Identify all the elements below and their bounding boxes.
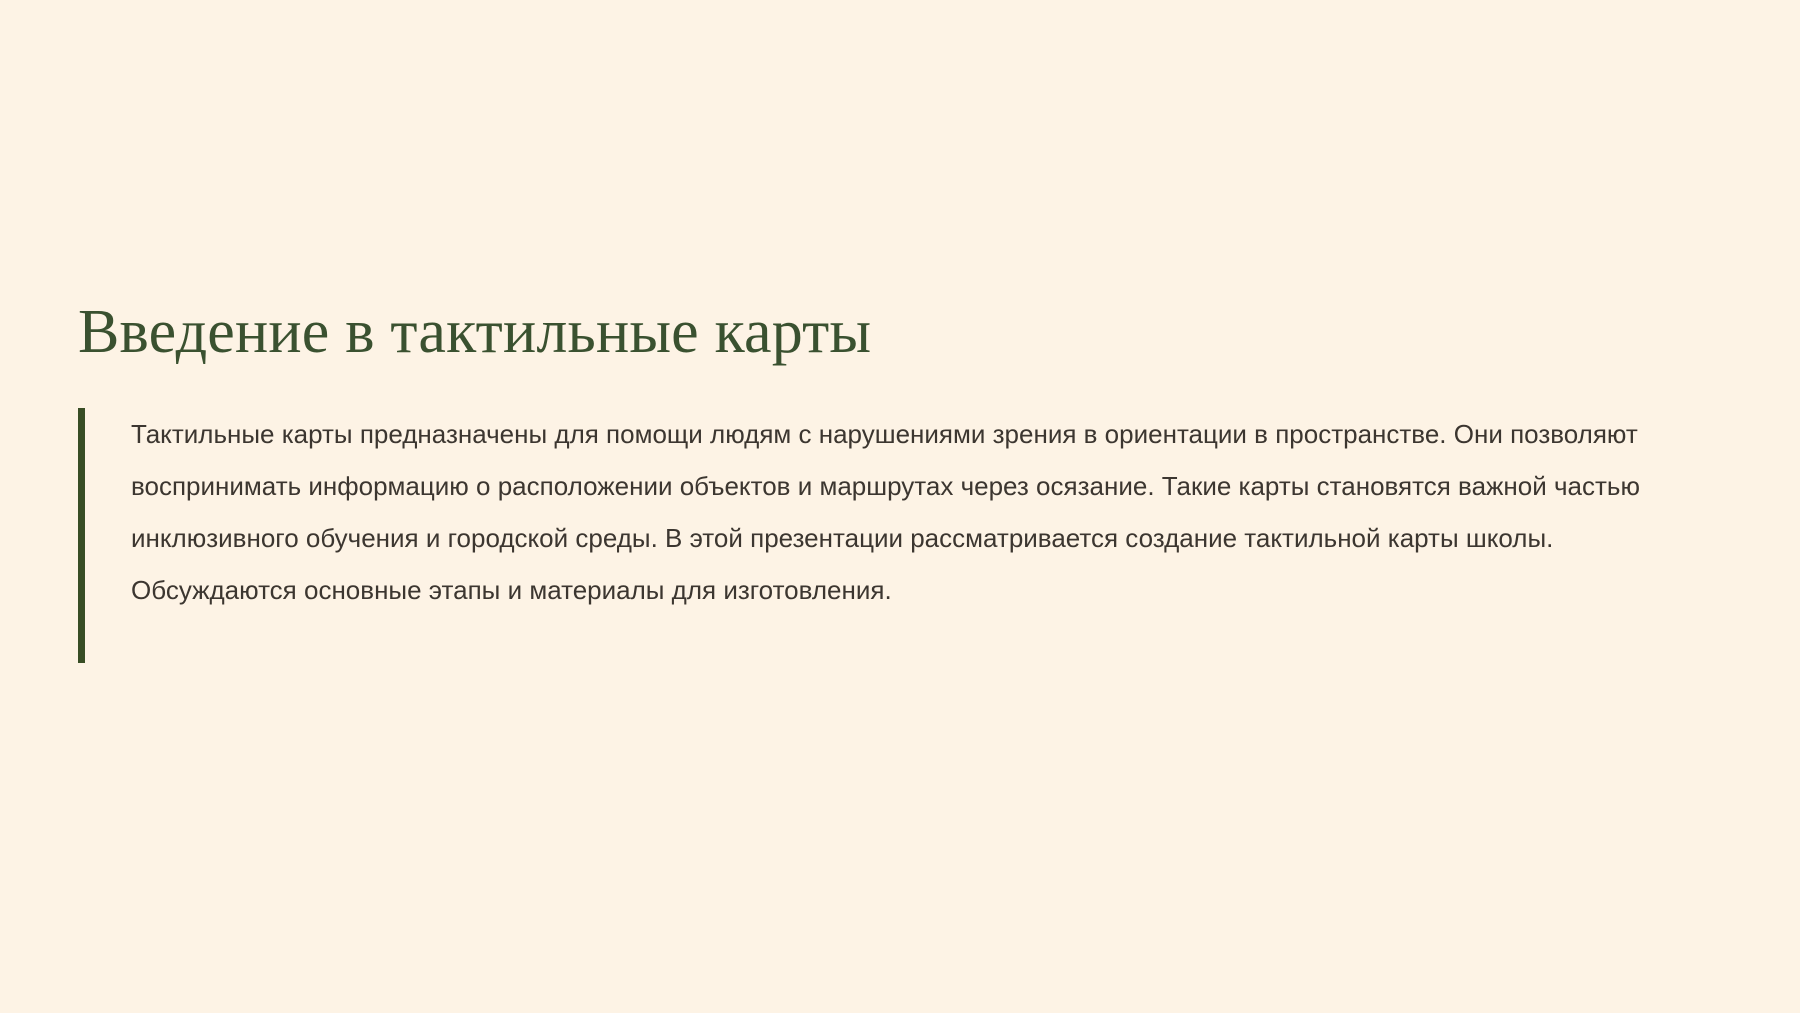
body-block: Тактильные карты предназначены для помощ… — [78, 408, 1698, 663]
slide-content: Введение в тактильные карты Тактильные к… — [78, 300, 1698, 663]
body-paragraph: Тактильные карты предназначены для помощ… — [131, 408, 1681, 616]
page-title: Введение в тактильные карты — [78, 300, 1698, 366]
presentation-slide: Введение в тактильные карты Тактильные к… — [0, 0, 1800, 1013]
accent-bar — [78, 408, 85, 663]
